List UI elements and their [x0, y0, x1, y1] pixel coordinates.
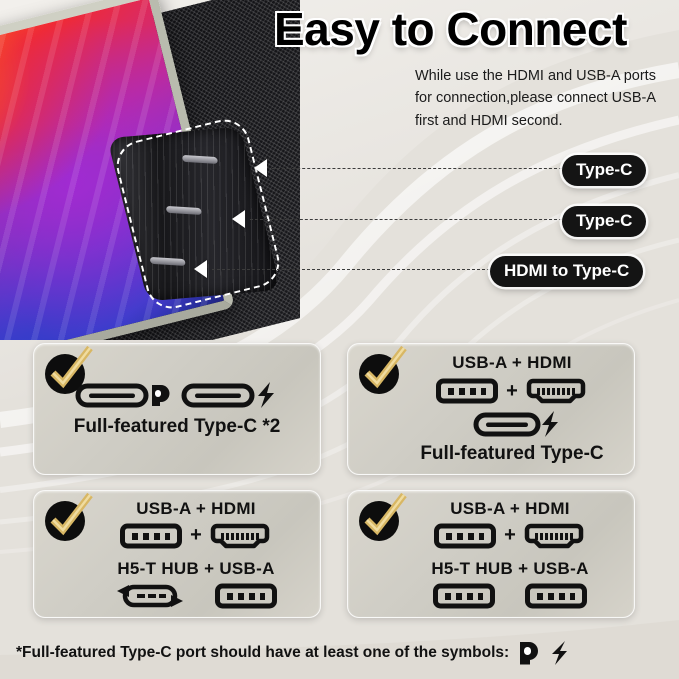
- usb-a-icon: [215, 582, 277, 610]
- plus-sign: +: [506, 380, 518, 403]
- callout-type-c-2: Type-C: [562, 206, 646, 237]
- footer-note-row: *Full-featured Type-C port should have a…: [16, 640, 569, 666]
- type-c-displayport-icon: [76, 380, 172, 410]
- hdmi-icon: [526, 377, 588, 405]
- thunderbolt-icon: [549, 640, 569, 666]
- usb-a-icon: [525, 582, 587, 610]
- card3-icon-row2: [115, 582, 277, 610]
- usb-a-icon: [436, 377, 498, 405]
- leader-line-1: [272, 168, 562, 169]
- hdmi-icon: [524, 522, 586, 550]
- card2-caption: Full-featured Type-C: [420, 443, 603, 465]
- card3-caption: H5-T HUB + USB-A: [117, 559, 274, 579]
- leader-line-3: [212, 269, 490, 270]
- arrowhead-2: [232, 210, 245, 228]
- card-usb-a-hdmi-plus-hub-usb-a: USB-A + HDMI + H: [33, 490, 321, 618]
- arrowhead-3: [194, 260, 207, 278]
- footer-note: *Full-featured Type-C port should have a…: [16, 644, 509, 662]
- page-title: Easy to Connect: [274, 2, 627, 56]
- hub-type-c-arrows-icon: [115, 582, 185, 610]
- card-usb-a-hdmi-plus-type-c: USB-A + HDMI +: [347, 343, 635, 475]
- hdmi-icon: [210, 522, 272, 550]
- plus-sign: +: [504, 524, 516, 547]
- card3-icon-row: +: [120, 522, 272, 550]
- card4-icon-row2: [433, 582, 587, 610]
- card2-title: USB-A + HDMI: [452, 353, 572, 373]
- callout-hdmi-to-type-c: HDMI to Type-C: [490, 256, 643, 287]
- card4-caption: H5-T HUB + USB-A: [431, 559, 588, 579]
- card3-title: USB-A + HDMI: [136, 499, 256, 519]
- displayport-icon: [518, 640, 540, 666]
- type-c-thunderbolt-icon: [464, 409, 560, 439]
- plus-sign: +: [190, 524, 202, 547]
- card4-icon-row: +: [434, 522, 586, 550]
- type-c-thunderbolt-icon: [182, 380, 278, 410]
- card-usb-a-hdmi-plus-hub-usb-a-alt: USB-A + HDMI + H: [347, 490, 635, 618]
- usb-a-icon: [120, 522, 182, 550]
- card2-icon-row: +: [436, 377, 588, 405]
- infographic-root: Easy to Connect While use the HDMI and U…: [0, 0, 679, 679]
- card4-title: USB-A + HDMI: [450, 499, 570, 519]
- leader-line-2: [250, 219, 562, 220]
- arrowhead-1: [254, 159, 267, 177]
- card-full-featured-type-c-x2: Full-featured Type-C *2: [33, 343, 321, 475]
- card1-caption: Full-featured Type-C *2: [74, 416, 281, 438]
- card1-icon-row: [76, 380, 278, 410]
- usb-a-icon: [433, 582, 495, 610]
- usb-a-icon: [434, 522, 496, 550]
- page-subtitle: While use the HDMI and USB-A ports for c…: [415, 65, 665, 132]
- callout-type-c-1: Type-C: [562, 155, 646, 186]
